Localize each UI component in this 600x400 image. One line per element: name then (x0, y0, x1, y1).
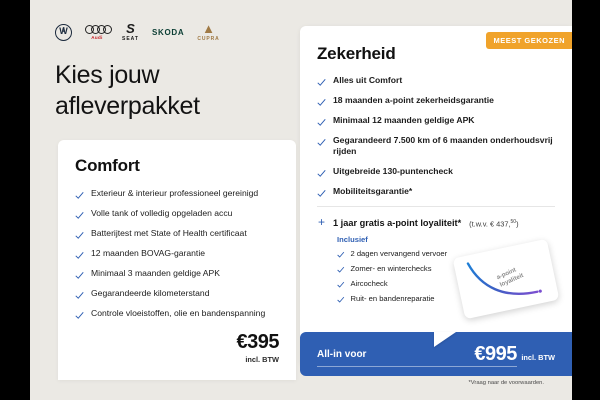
check-icon (75, 191, 84, 200)
list-item: Controle vloeistoffen, olie en bandenspa… (75, 308, 279, 320)
feature-text: Gegarandeerde kilometerstand (91, 288, 209, 299)
check-icon (317, 169, 326, 178)
feature-text: Alles uit Comfort (333, 75, 402, 86)
skoda-logo-icon: SKODA (152, 28, 184, 37)
feature-text: Uitgebreide 130-puntencheck (333, 166, 453, 177)
comfort-price-block: €395 incl. BTW (237, 332, 280, 364)
check-icon (75, 271, 84, 280)
comfort-feature-list: Exterieur & interieur professioneel gere… (75, 188, 279, 320)
audi-logo-icon: Audi (85, 25, 109, 40)
comfort-price: €395 (237, 332, 280, 352)
allin-label: All-in voor (317, 349, 366, 360)
sub-feature-text: Ruit- en bandenreparatie (351, 294, 435, 303)
list-item: Mobiliteitsgarantie* (317, 186, 555, 198)
volkswagen-logo-icon (55, 24, 72, 41)
comfort-price-note: incl. BTW (237, 355, 280, 364)
list-item: Gegarandeerd 7.500 km of 6 maanden onder… (317, 135, 555, 158)
list-item: Alles uit Comfort (317, 75, 555, 87)
check-icon (75, 211, 84, 220)
audi-wordmark: Audi (91, 35, 103, 40)
feature-text: Exterieur & interieur professioneel gere… (91, 188, 258, 199)
list-item: Batterijtest met State of Health certifi… (75, 228, 279, 240)
list-item: 18 maanden a-point zekerheidsgarantie (317, 95, 555, 107)
check-icon (75, 291, 84, 300)
list-item: 12 maanden BOVAG-garantie (75, 248, 279, 260)
list-item: Volle tank of volledig opgeladen accu (75, 208, 279, 220)
bonus-value: (t.w.v. € 437,50) (469, 219, 518, 228)
check-icon (337, 296, 345, 304)
feature-text: 12 maanden BOVAG-garantie (91, 248, 205, 259)
feature-text: Minimaal 3 maanden geldige APK (91, 268, 220, 279)
feature-text: Gegarandeerd 7.500 km of 6 maanden onder… (333, 135, 555, 158)
cupra-wordmark: CUPRA (197, 36, 219, 42)
feature-text: Batterijtest met State of Health certifi… (91, 228, 247, 239)
check-icon (317, 118, 326, 127)
comfort-title: Comfort (75, 156, 279, 176)
seat-wordmark: SEAT (122, 36, 139, 42)
list-item: Uitgebreide 130-puntencheck (317, 166, 555, 178)
cupra-logo-icon: ▲ CUPRA (197, 22, 219, 42)
check-icon (317, 78, 326, 87)
check-icon (337, 266, 345, 274)
list-item: Gegarandeerde kilometerstand (75, 288, 279, 300)
feature-text: Volle tank of volledig opgeladen accu (91, 208, 232, 219)
check-icon (75, 251, 84, 260)
feature-text: Mobiliteitsgarantie* (333, 186, 412, 197)
divider (317, 366, 517, 367)
list-item: Exterieur & interieur professioneel gere… (75, 188, 279, 200)
sub-feature-text: Zomer- en winterchecks (351, 264, 432, 273)
list-item: Minimaal 12 maanden geldige APK (317, 115, 555, 127)
letterbox-right (572, 0, 600, 400)
check-icon (337, 281, 345, 289)
page-title: Kies jouw afleverpakket (55, 60, 305, 121)
promo-canvas: Audi S SEAT SKODA ▲ CUPRA Kies jouw afle… (30, 0, 572, 400)
check-icon (317, 138, 326, 147)
allin-price-block: €995 incl. BTW (474, 344, 555, 365)
seat-logo-icon: S SEAT (122, 22, 139, 42)
check-icon (75, 311, 84, 320)
feature-text: 18 maanden a-point zekerheidsgarantie (333, 95, 494, 106)
package-card-zekerheid[interactable]: MEEST GEKOZEN Zekerheid Alles uit Comfor… (300, 26, 572, 366)
feature-text: Controle vloeistoffen, olie en bandenspa… (91, 308, 265, 319)
package-card-comfort[interactable]: Comfort Exterieur & interieur profession… (58, 140, 296, 380)
card-fold-corner (434, 332, 456, 347)
zekerheid-feature-list: Alles uit Comfort 18 maanden a-point zek… (317, 75, 555, 198)
divider (317, 206, 555, 207)
feature-text: Minimaal 12 maanden geldige APK (333, 115, 475, 126)
check-icon (75, 231, 84, 240)
zekerheid-price: €995 (474, 343, 517, 365)
letterbox-left (0, 0, 30, 400)
bonus-title: 1 jaar gratis a-point loyaliteit* (333, 218, 461, 228)
plus-icon: + (318, 216, 325, 228)
check-icon (337, 251, 345, 259)
footnote: *Vraag naar de voorwaarden. (468, 380, 544, 386)
status-badge: MEEST GEKOZEN (486, 32, 572, 49)
check-icon (317, 189, 326, 198)
brand-logo-strip: Audi S SEAT SKODA ▲ CUPRA (55, 22, 220, 42)
screenshot-stage: Audi S SEAT SKODA ▲ CUPRA Kies jouw afle… (0, 0, 600, 400)
sub-feature-text: 2 dagen vervangend vervoer (351, 249, 448, 258)
zekerheid-price-note: incl. BTW (521, 353, 555, 362)
check-icon (317, 98, 326, 107)
sub-feature-text: Aircocheck (351, 279, 388, 288)
list-item: Minimaal 3 maanden geldige APK (75, 268, 279, 280)
bonus-row: + 1 jaar gratis a-point loyaliteit* (t.w… (317, 216, 555, 228)
